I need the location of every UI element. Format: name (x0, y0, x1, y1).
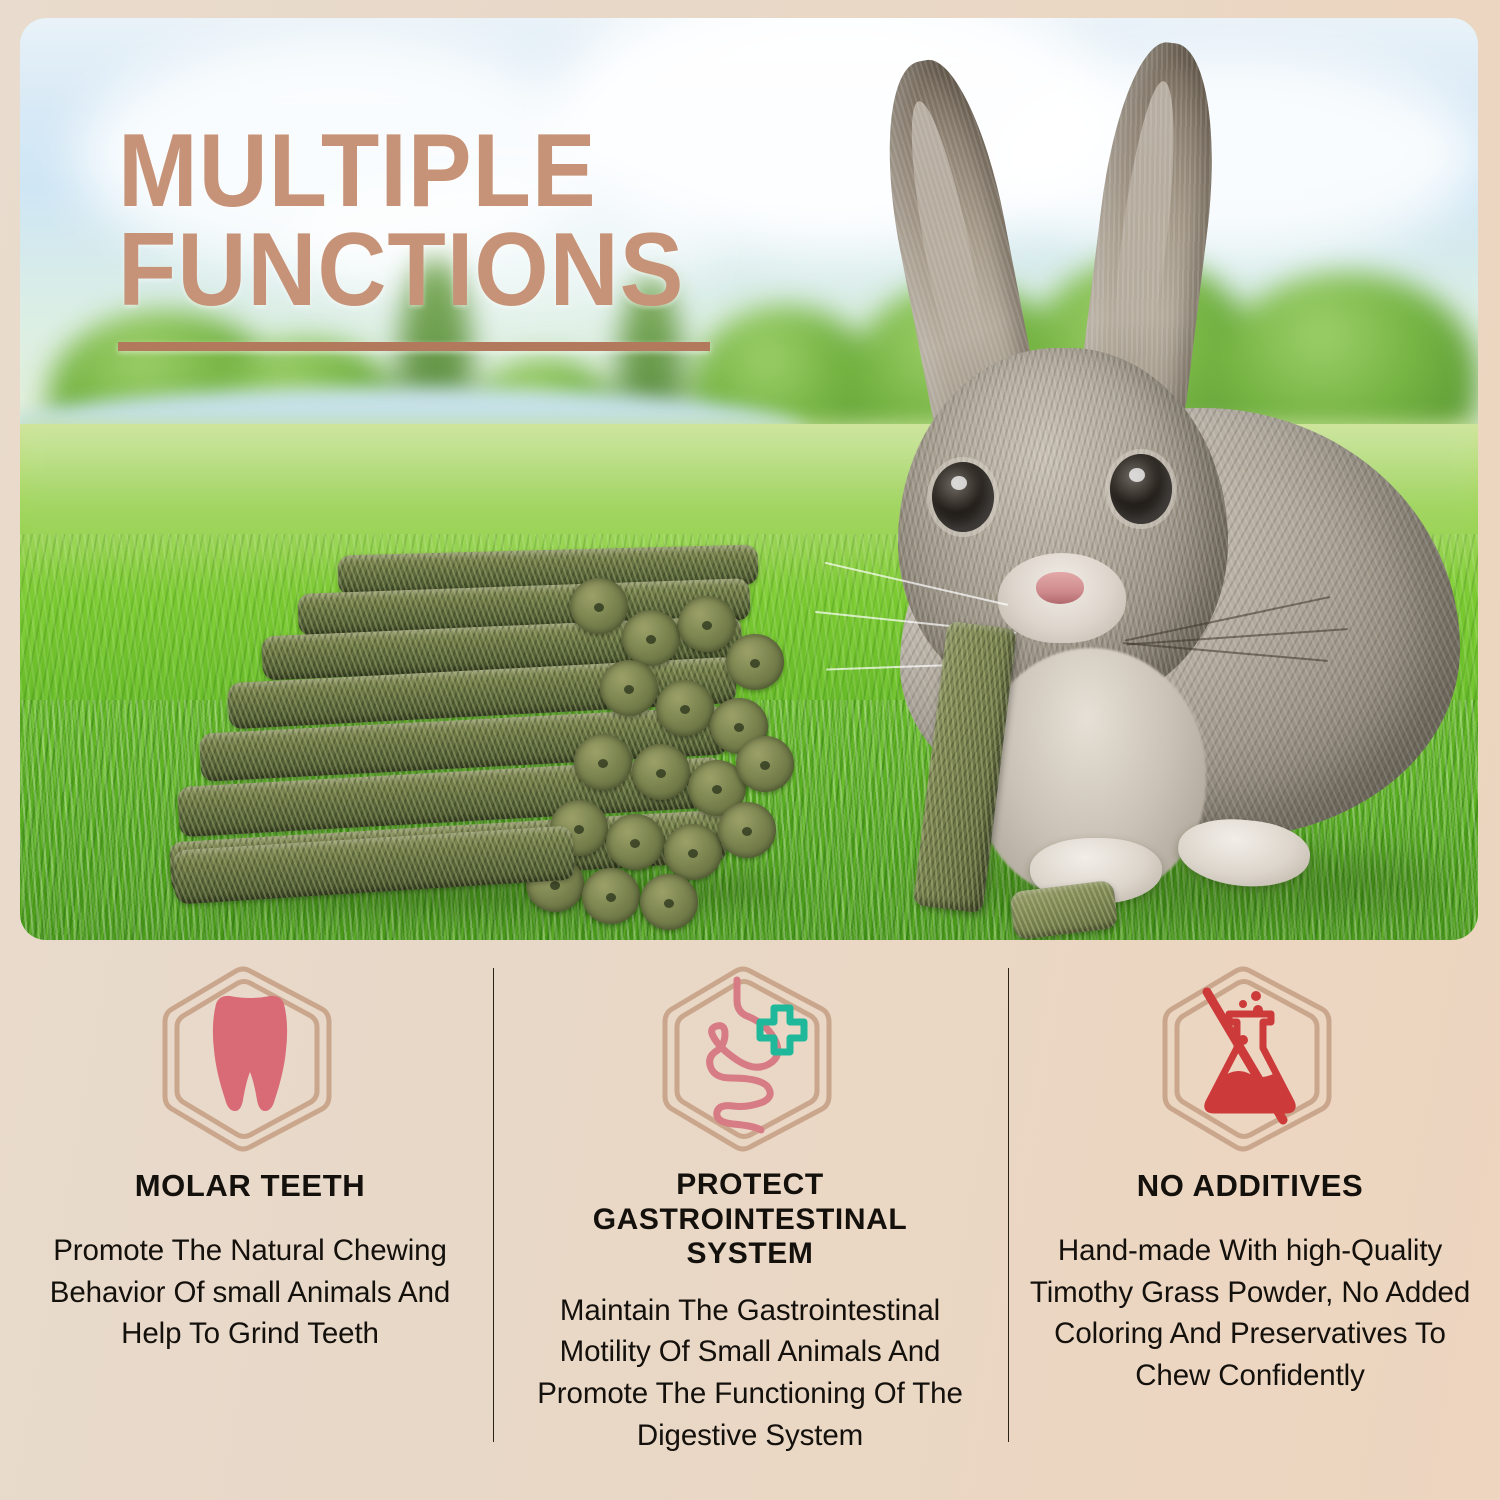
hero-title-block: MULTIPLE FUNCTIONS (118, 122, 734, 351)
hay-stick-end (570, 578, 628, 634)
molar-tooth-icon (159, 964, 341, 1154)
hay-stick-end (632, 744, 690, 800)
hay-stick-pile (170, 538, 790, 908)
feature-body: Promote The Natural Chewing Behavior Of … (26, 1230, 474, 1356)
rabbit-nose (1036, 572, 1084, 604)
hay-stick-end (656, 680, 714, 736)
feature-title-line-1: PROTECT (676, 1168, 824, 1201)
title-underline-rule (118, 342, 710, 351)
feature-no-additives: NO ADDITIVES Hand-made With high-Quality… (1000, 952, 1500, 1500)
rabbit-eye-left (932, 462, 994, 532)
feature-title: PROTECT GASTROINTESTINAL SYSTEM (526, 1168, 974, 1272)
feature-body: Hand-made With high-Quality Timothy Gras… (1026, 1230, 1474, 1398)
hay-stick-end (574, 734, 632, 790)
hay-stick-end (600, 660, 658, 716)
hay-stick-end (664, 824, 722, 880)
feature-row: MOLAR TEETH Promote The Natural Chewing … (0, 952, 1500, 1500)
hay-stick-end (582, 868, 640, 924)
hero-title-line-1: MULTIPLE (118, 122, 684, 221)
feature-title: NO ADDITIVES (1137, 1168, 1364, 1204)
hay-stick-end (606, 814, 664, 870)
hay-stick-end (718, 802, 776, 858)
gastrointestinal-system-icon (659, 964, 841, 1154)
hay-stick-end (622, 610, 680, 666)
hay-stick-end (640, 874, 698, 930)
rabbit-photo-subject (780, 48, 1478, 928)
feature-protect-gastrointestinal-system: PROTECT GASTROINTESTINAL SYSTEM Maintain… (500, 952, 1000, 1500)
hero-photo-panel: MULTIPLE FUNCTIONS (20, 18, 1478, 940)
feature-title: MOLAR TEETH (135, 1168, 365, 1204)
feature-title-line-2: GASTROINTESTINAL SYSTEM (593, 1203, 908, 1271)
hero-title-line-2: FUNCTIONS (118, 221, 684, 320)
feature-body: Maintain The Gastrointestinal Motility O… (526, 1290, 974, 1458)
rabbit-eye-right (1110, 454, 1172, 524)
feature-molar-teeth: MOLAR TEETH Promote The Natural Chewing … (0, 952, 500, 1500)
hay-stick-end (678, 596, 736, 652)
hay-stick-end (726, 634, 784, 690)
no-additives-flask-icon (1159, 964, 1341, 1154)
